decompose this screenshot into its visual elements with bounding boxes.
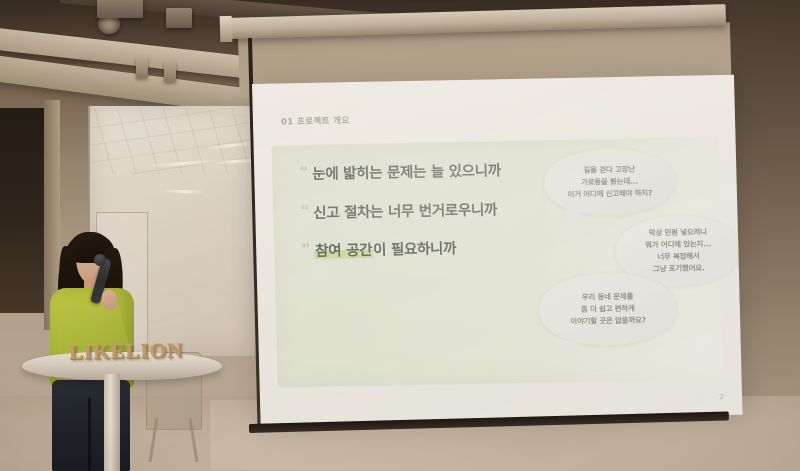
track-light [164, 60, 176, 82]
screen-housing-cap [220, 16, 233, 42]
podium-stem [104, 374, 120, 471]
projected-slide: 01 프로젝트 개요 01 눈에 밟히는 문제는 늘 있으니까 02 신고 절차… [252, 75, 743, 424]
ceiling-fixture-box [97, 0, 143, 18]
speech-bubble-text: 막상 민원 넣으려니 뭐가 어디에 있는지... 너무 복잡해서 그냥 포기했어… [645, 226, 712, 275]
bullet-label: 신고 절차는 너무 번거로우니까 [313, 199, 523, 224]
bullet-item-1: 01 눈에 밟히는 문제는 늘 있으니까 [312, 161, 522, 186]
bullet-number: 03 [302, 243, 310, 249]
bullet-list: 01 눈에 밟히는 문제는 늘 있으니까 02 신고 절차는 너무 번거로우니까… [312, 161, 525, 281]
slide-page-number: 2 [719, 393, 724, 401]
speech-bubble-tail [562, 341, 576, 359]
ceiling-junction-box [166, 8, 192, 28]
bullet-item-2: 02 신고 절차는 너무 번거로우니까 [313, 199, 523, 224]
speech-bubble-text: 우리 동네 문제를 좀 더 쉽고 편하게 이야기할 곳은 없을까요? [570, 291, 646, 328]
likelion-wordmark: LIKELION [56, 337, 196, 365]
bullet-number: 01 [300, 166, 308, 172]
bullet-label: 참여 공간이 필요하니까 [314, 238, 524, 263]
track-light [136, 56, 148, 78]
bullet-number: 02 [301, 205, 309, 211]
slide-section-header: 01 프로젝트 개요 [281, 114, 350, 127]
bullet-item-3: 03 참여 공간이 필요하니까 [314, 238, 524, 263]
bullet-label: 눈에 밟히는 문제는 늘 있으니까 [312, 161, 522, 186]
presenter-leg-seam [88, 398, 91, 471]
presentation-room-scene: 01 프로젝트 개요 01 눈에 밟히는 문제는 늘 있으니까 02 신고 절차… [0, 0, 800, 471]
speech-bubble-text: 길을 걷다 고장난 가로등을 봤는데... 이거 어디에 신고해야 하지? [567, 163, 652, 201]
